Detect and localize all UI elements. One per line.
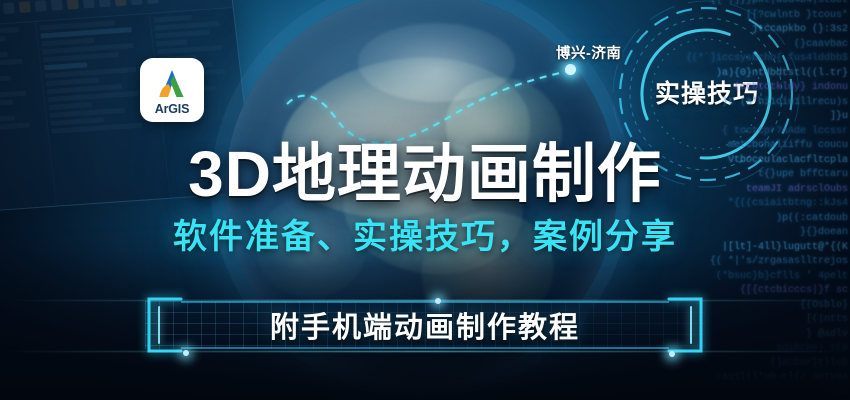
banner-text: 附手机端动画制作教程 xyxy=(135,296,715,354)
headline-block: 3D地理动画制作 软件准备、实操技巧，案例分享 xyxy=(0,142,850,254)
badge-tag: 实操技巧 xyxy=(642,74,772,110)
page-subtitle: 软件准备、实操技巧，案例分享 xyxy=(0,220,850,254)
page-title: 3D地理动画制作 xyxy=(0,142,850,206)
poster-canvas: 博兴-济南 ArGIS 实操技巧 {{*|]}}pkt|d6a4b4|stuct… xyxy=(0,0,850,400)
map-pin-dot-icon xyxy=(565,64,576,75)
arcgis-wordmark: ArGIS xyxy=(155,103,189,116)
code-line: {{cu xyxy=(574,386,850,400)
map-route-label: 博兴-济南 xyxy=(556,42,621,63)
bottom-banner: 附手机端动画制作教程 xyxy=(135,296,715,354)
arcgis-logo: ArGIS xyxy=(140,58,204,122)
arcgis-mark-icon xyxy=(152,68,192,102)
